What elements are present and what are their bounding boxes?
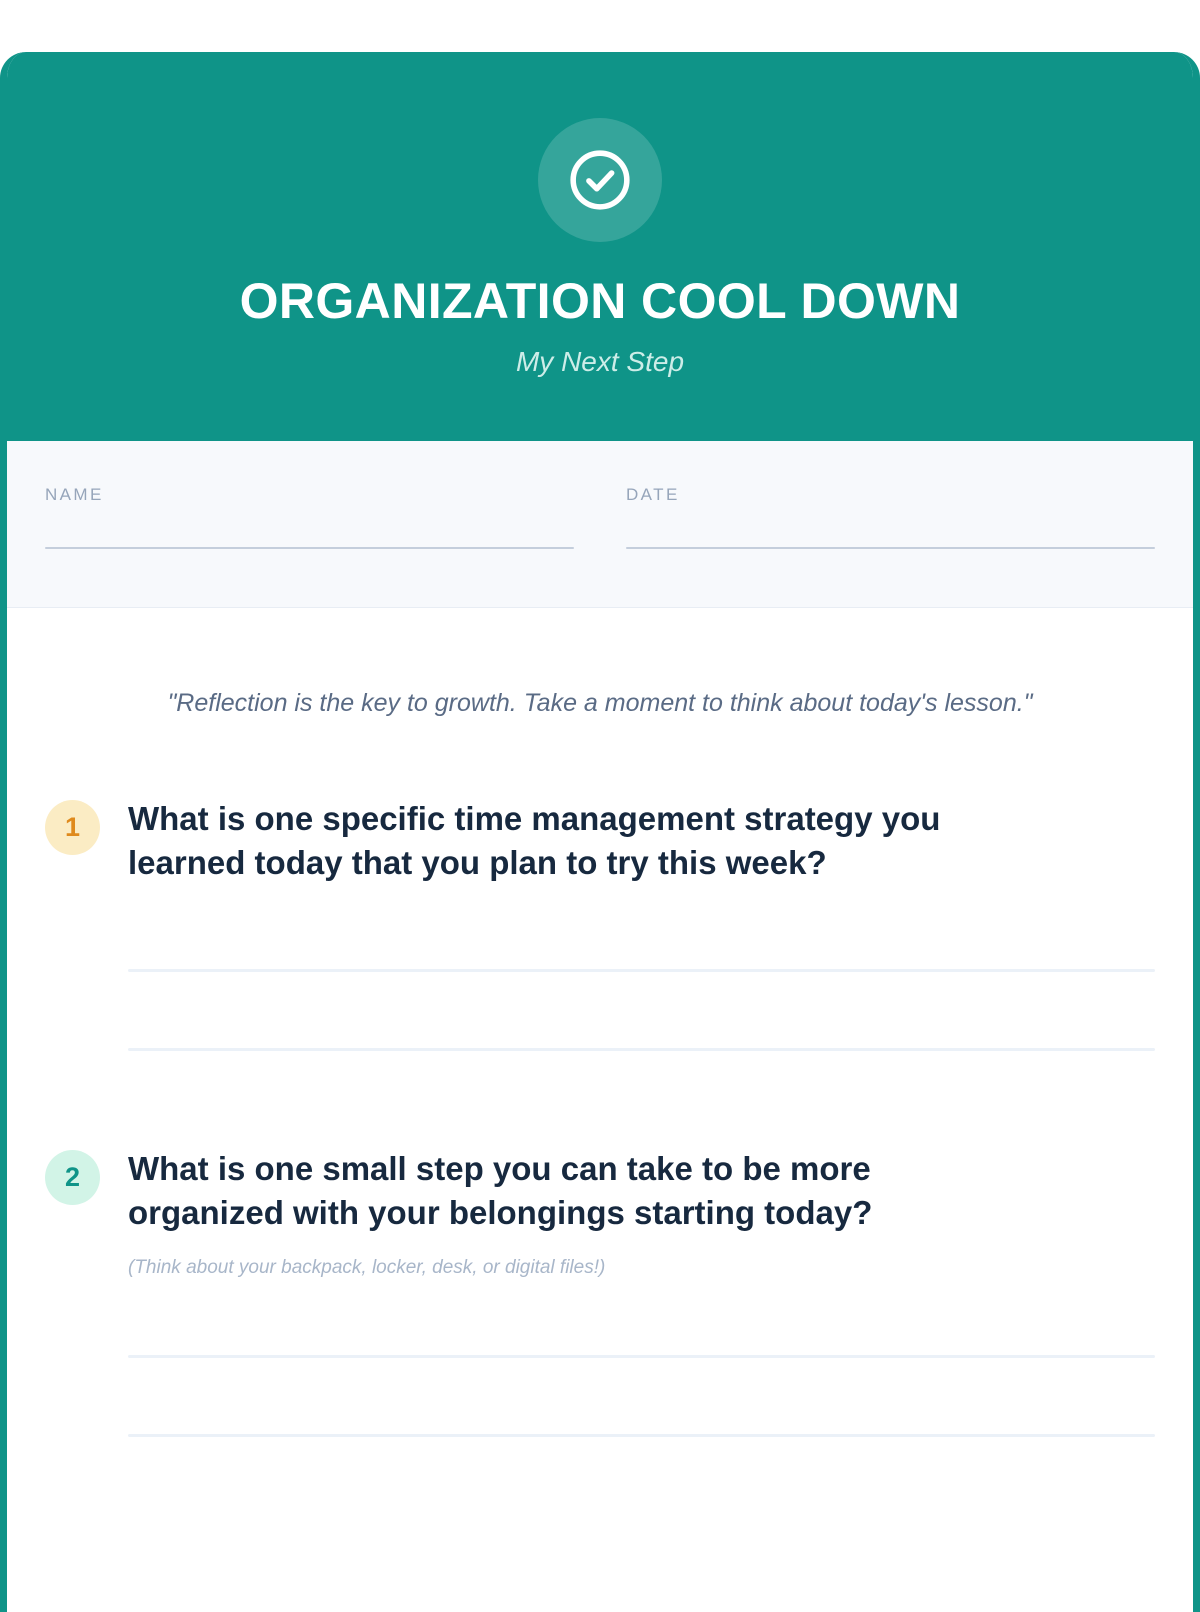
question-block-1: 1 What is one specific time management s… bbox=[45, 797, 1155, 1051]
worksheet-body: "Reflection is the key to growth. Take a… bbox=[7, 608, 1193, 1437]
page-subtitle: My Next Step bbox=[0, 346, 1200, 378]
question-2-hint: (Think about your backpack, locker, desk… bbox=[128, 1257, 1155, 1279]
name-input-line[interactable] bbox=[45, 547, 574, 549]
question-block-2: 2 What is one small step you can take to… bbox=[45, 1147, 1155, 1437]
question-2-answer-area bbox=[128, 1355, 1155, 1437]
question-2-head: 2 What is one small step you can take to… bbox=[45, 1147, 1155, 1235]
meta-row: NAME DATE bbox=[7, 441, 1193, 608]
answer-line[interactable] bbox=[128, 969, 1155, 972]
question-1-head: 1 What is one specific time management s… bbox=[45, 797, 1155, 885]
date-label: DATE bbox=[626, 485, 1155, 505]
answer-line[interactable] bbox=[128, 1355, 1155, 1358]
reflection-quote: "Reflection is the key to growth. Take a… bbox=[45, 608, 1155, 721]
question-1-text: What is one specific time management str… bbox=[128, 797, 1033, 885]
question-2-number-badge: 2 bbox=[45, 1150, 100, 1205]
header-icon-badge bbox=[538, 118, 662, 242]
name-field-group: NAME bbox=[45, 485, 626, 607]
question-2-text: What is one small step you can take to b… bbox=[128, 1147, 1033, 1235]
page-title: ORGANIZATION COOL DOWN bbox=[0, 274, 1200, 328]
worksheet-header: ORGANIZATION COOL DOWN My Next Step bbox=[0, 52, 1200, 441]
answer-line[interactable] bbox=[128, 1434, 1155, 1437]
answer-line[interactable] bbox=[128, 1048, 1155, 1051]
name-label: NAME bbox=[45, 485, 574, 505]
question-1-number-badge: 1 bbox=[45, 800, 100, 855]
question-1-answer-area bbox=[128, 969, 1155, 1051]
worksheet-card: ORGANIZATION COOL DOWN My Next Step NAME… bbox=[0, 52, 1200, 1612]
worksheet-page: ORGANIZATION COOL DOWN My Next Step NAME… bbox=[0, 0, 1200, 1600]
date-input-line[interactable] bbox=[626, 547, 1155, 549]
date-field-group: DATE bbox=[626, 485, 1155, 607]
check-circle-icon bbox=[565, 145, 635, 215]
